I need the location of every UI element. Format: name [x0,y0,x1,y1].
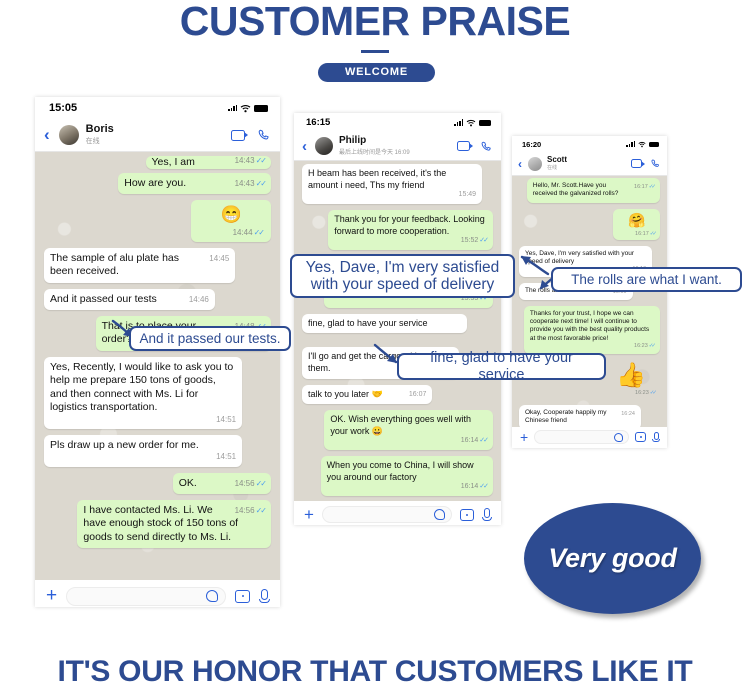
status-bar: 15:05 [35,97,280,119]
message-text: How are you. [124,177,186,189]
header-actions [631,159,660,168]
wifi-icon [240,104,251,113]
chat-message: Thank you for your feedback. Looking for… [328,210,493,250]
composer-3: + [512,427,667,447]
chat-message: 🤗 16:17✓✓ [613,209,660,240]
contact-status: 最后上线时间是今天 16:09 [339,147,410,156]
message-text: And it passed our tests [50,293,157,305]
contact-name: Philip [339,136,410,147]
message-text: The sample of alu plate has been receive… [50,252,179,277]
mic-icon[interactable] [259,589,270,603]
welcome-badge: WELCOME [318,63,435,82]
back-icon[interactable]: ‹ [518,157,522,171]
message-text: Thanks for your trust, I hope we can coo… [530,310,649,342]
mic-icon[interactable] [482,508,492,521]
composer-2: + [294,501,501,525]
chat-message: 14:43✓✓ How are you. [118,173,271,194]
status-icons [454,119,491,127]
chat-message: OK. Wish everything goes well with your … [324,410,493,450]
chat-message: 16:24 Okay, Cooperate happily my Chinese… [519,405,641,427]
title-divider [361,50,389,53]
message-meta: 16:17✓✓ [634,184,654,191]
phone-screenshot-1: 15:05 ‹ Boris 在线 14:43✓✓ Yes, I am 14:43… [35,97,280,607]
mic-icon[interactable] [652,432,660,442]
chat-message: 14:56✓✓ I have contacted Ms. Li. We have… [77,500,271,548]
contact-block: Scott 在线 [547,156,567,171]
message-text: fine, glad to have your service [308,318,428,328]
message-text: OK. Wish everything goes well with your … [330,414,471,436]
contact-block: Boris 在线 [86,124,114,146]
message-meta: 16:24 [621,411,635,418]
camera-icon[interactable] [460,509,474,521]
back-icon[interactable]: ‹ [44,125,50,145]
chat-header-3: ‹ Scott 在线 [512,152,667,176]
video-call-icon[interactable] [631,159,642,168]
message-input[interactable] [322,506,452,523]
avatar [315,137,333,155]
chat-message: When you come to China, I will show you … [321,456,493,496]
message-input[interactable] [66,587,226,606]
sticker-icon[interactable] [434,509,445,520]
chat-message: 16:07 talk to you later 🤝 [302,385,432,405]
chat-message: 14:45 The sample of alu plate has been r… [44,248,235,283]
contact-block: Philip 最后上线时间是今天 16:09 [339,136,410,156]
message-meta: 14:46 [189,295,209,305]
message-meta: 16:07 [409,391,427,400]
back-icon[interactable]: ‹ [302,138,307,155]
message-text: Yes, Recently, I would like to ask you t… [50,361,233,413]
chat-header-1: ‹ Boris 在线 [35,119,280,152]
message-emoji: 🤗 [618,213,655,227]
chat-body-3[interactable]: 16:17✓✓ Hello, Mr. Scott.Have you receiv… [512,176,667,427]
very-good-label: Very good [548,543,676,574]
chat-message: Pls draw up a new order for me. 14:51 [44,435,242,467]
callout-box-2: Yes, Dave, I'm very satisfied with your … [290,254,515,298]
contact-status: 在线 [547,164,567,171]
message-text: Thank you for your feedback. Looking for… [334,214,485,236]
message-text: Yes, I am [152,156,195,168]
message-text: OK. [179,477,197,489]
chat-message: H beam has been received, it's the amoun… [302,164,482,204]
page-title: CUSTOMER PRAISE [0,0,750,45]
contact-name: Boris [86,124,114,136]
video-call-icon[interactable] [457,141,470,151]
attach-icon[interactable]: + [520,429,528,445]
voice-call-icon[interactable] [651,159,660,168]
contact-name: Scott [547,156,567,164]
header-actions [231,129,270,141]
message-text: H beam has been received, it's the amoun… [308,168,446,190]
contact-status: 在线 [86,136,114,146]
very-good-stamp: Very good [524,503,701,614]
message-text: I have contacted Ms. Li. We have enough … [83,504,238,543]
chat-message: 14:46 And it passed our tests [44,289,215,310]
chat-message: Thanks for your trust, I hope we can coo… [524,306,660,354]
status-bar: 16:15 [294,113,501,132]
message-text: talk to you later 🤝 [308,389,383,399]
footer-title: IT'S OUR HONOR THAT CUSTOMERS LIKE IT [0,655,750,689]
chat-message: 😁 14:44✓✓ [191,200,271,241]
chat-body-2[interactable]: H beam has been received, it's the amoun… [294,161,501,501]
phone-screenshot-2: 16:15 ‹ Philip 最后上线时间是今天 16:09 H beam ha… [294,113,501,525]
camera-icon[interactable] [235,590,250,603]
wifi-icon [466,119,476,127]
callout-box-4: fine, glad to have your service [397,353,606,380]
message-meta: 14:45 [209,254,229,264]
status-bar: 16:20 [512,136,667,152]
camera-icon[interactable] [635,432,646,442]
callout-box-1: And it passed our tests. [129,326,291,351]
message-meta: 14:43✓✓ [235,179,265,189]
status-time: 16:20 [522,140,541,149]
message-text: Pls draw up a new order for me. [50,439,199,451]
header-actions [457,141,492,152]
message-input[interactable] [534,430,629,444]
message-emoji: 👍 [607,364,655,388]
message-meta: 14:56✓✓ [235,506,265,516]
status-icons [228,104,268,113]
callout-box-3: The rolls are what I want. [551,267,742,292]
chat-message: 16:17✓✓ Hello, Mr. Scott.Have you receiv… [527,178,660,203]
message-text: When you come to China, I will show you … [327,460,474,482]
chat-message: 14:43✓✓ Yes, I am [146,156,272,169]
battery-icon [254,105,268,112]
voice-call-icon[interactable] [258,129,270,141]
message-text: Okay, Cooperate happily my Chinese frien… [525,409,607,424]
message-meta: 14:56✓✓ [235,479,265,489]
chat-header-2: ‹ Philip 最后上线时间是今天 16:09 [294,132,501,161]
chat-body-1[interactable]: 14:43✓✓ Yes, I am 14:43✓✓ How are you. 😁… [35,152,280,580]
attach-icon[interactable]: + [304,505,314,525]
video-call-icon[interactable] [231,130,245,141]
message-emoji: 😁 [199,206,263,223]
status-icons [626,141,659,148]
composer-1: + [35,580,280,607]
avatar [528,157,542,171]
battery-icon [479,120,491,126]
signal-icon [454,119,463,126]
avatar [59,125,79,145]
chat-message: 14:56✓✓ OK. [173,473,271,494]
chat-message: Yes, Recently, I would like to ask you t… [44,357,242,429]
sticker-icon[interactable] [614,433,623,442]
battery-icon [649,142,659,147]
message-text: Hello, Mr. Scott.Have you received the g… [533,182,619,197]
wifi-icon [638,141,646,148]
status-time: 16:15 [306,117,330,128]
chat-message: 👍 16:23✓✓ [602,360,660,399]
status-time: 15:05 [49,102,77,114]
signal-icon [626,141,635,148]
attach-icon[interactable]: + [46,585,57,607]
voice-call-icon[interactable] [481,141,492,152]
message-meta: 14:43✓✓ [235,156,265,166]
chat-message: fine, glad to have your service [302,314,467,334]
sticker-icon[interactable] [206,590,218,602]
signal-icon [228,105,237,112]
